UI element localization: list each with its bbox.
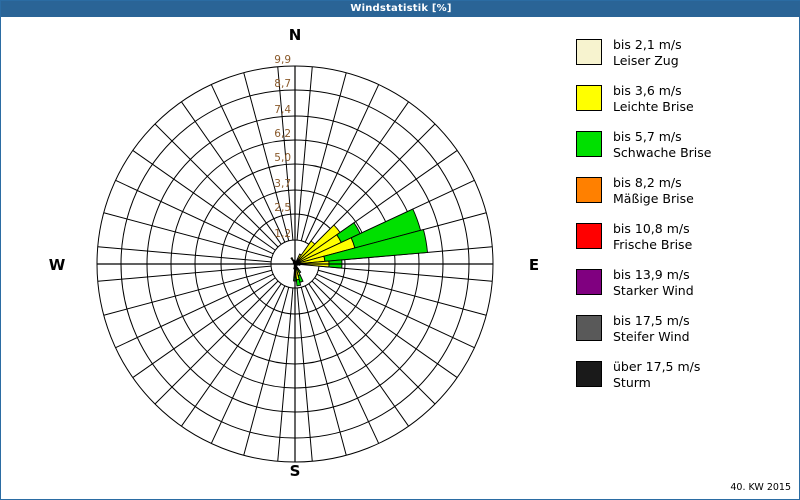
legend-item[interactable]: bis 10,8 m/s Frische Brise bbox=[576, 221, 791, 263]
radial-tick-label: 5,0 bbox=[274, 152, 291, 164]
legend-swatch-maessige-brise bbox=[576, 177, 602, 203]
radial-tick-labels: 1,22,53,75,06,27,48,79,9 bbox=[274, 54, 291, 240]
legend-item[interactable]: bis 3,6 m/s Leichte Brise bbox=[576, 83, 791, 125]
radial-tick-label: 9,9 bbox=[274, 54, 291, 66]
radial-tick-label: 1,2 bbox=[274, 228, 291, 240]
legend-label-speed: bis 2,1 m/s bbox=[613, 37, 682, 53]
legend-label-speed: bis 5,7 m/s bbox=[613, 129, 711, 145]
legend-label-name: Starker Wind bbox=[613, 283, 694, 299]
legend-swatch-leichte-brise bbox=[576, 85, 602, 111]
radial-tick-label: 6,2 bbox=[274, 128, 291, 140]
legend-label-name: Steifer Wind bbox=[613, 329, 690, 345]
compass-label-east: E bbox=[529, 256, 539, 274]
legend-item[interactable]: bis 5,7 m/s Schwache Brise bbox=[576, 129, 791, 171]
radial-tick-label: 2,5 bbox=[274, 202, 291, 214]
legend-swatch-schwache-brise bbox=[576, 131, 602, 157]
legend-swatch-sturm bbox=[576, 361, 602, 387]
legend-label-name: Leichte Brise bbox=[613, 99, 694, 115]
legend-label-name: Frische Brise bbox=[613, 237, 692, 253]
legend-label-speed: über 17,5 m/s bbox=[613, 359, 700, 375]
legend-label-name: Mäßige Brise bbox=[613, 191, 694, 207]
legend-swatch-leiser-zug bbox=[576, 39, 602, 65]
windstatistik-window: Windstatistik [%] 1,22,53,75,06,27,48,79… bbox=[0, 0, 800, 500]
compass-label-west: W bbox=[49, 256, 66, 274]
radial-tick-label: 7,4 bbox=[274, 104, 291, 116]
footer-week-label: 40. KW 2015 bbox=[730, 482, 791, 493]
compass-label-south: S bbox=[290, 462, 301, 480]
window-title: Windstatistik [%] bbox=[350, 1, 451, 17]
compass-label-north: N bbox=[289, 26, 302, 44]
legend-label-name: Leiser Zug bbox=[613, 53, 682, 69]
wind-rose-chart: 1,22,53,75,06,27,48,79,9 N S W E bbox=[2, 18, 567, 498]
radial-tick-label: 3,7 bbox=[274, 178, 291, 190]
legend-item[interactable]: bis 13,9 m/s Starker Wind bbox=[576, 267, 791, 309]
legend-swatch-steifer-wind bbox=[576, 315, 602, 341]
legend-swatch-frische-brise bbox=[576, 223, 602, 249]
legend-label-speed: bis 13,9 m/s bbox=[613, 267, 694, 283]
legend-label-name: Schwache Brise bbox=[613, 145, 711, 161]
legend-label-name: Sturm bbox=[613, 375, 700, 391]
legend-label-speed: bis 8,2 m/s bbox=[613, 175, 694, 191]
legend-label-speed: bis 10,8 m/s bbox=[613, 221, 692, 237]
radial-tick-label: 8,7 bbox=[274, 78, 291, 90]
legend-item[interactable]: bis 8,2 m/s Mäßige Brise bbox=[576, 175, 791, 217]
legend-label-speed: bis 17,5 m/s bbox=[613, 313, 690, 329]
window-title-bar: Windstatistik [%] bbox=[1, 1, 800, 17]
legend-swatch-starker-wind bbox=[576, 269, 602, 295]
legend-item[interactable]: bis 17,5 m/s Steifer Wind bbox=[576, 313, 791, 355]
legend-label-speed: bis 3,6 m/s bbox=[613, 83, 694, 99]
wind-rose-svg: 1,22,53,75,06,27,48,79,9 N S W E bbox=[2, 18, 567, 498]
legend-item[interactable]: über 17,5 m/s Sturm bbox=[576, 359, 791, 401]
legend-item[interactable]: bis 2,1 m/s Leiser Zug bbox=[576, 37, 791, 79]
legend: bis 2,1 m/s Leiser Zug bis 3,6 m/s Leich… bbox=[576, 37, 791, 405]
